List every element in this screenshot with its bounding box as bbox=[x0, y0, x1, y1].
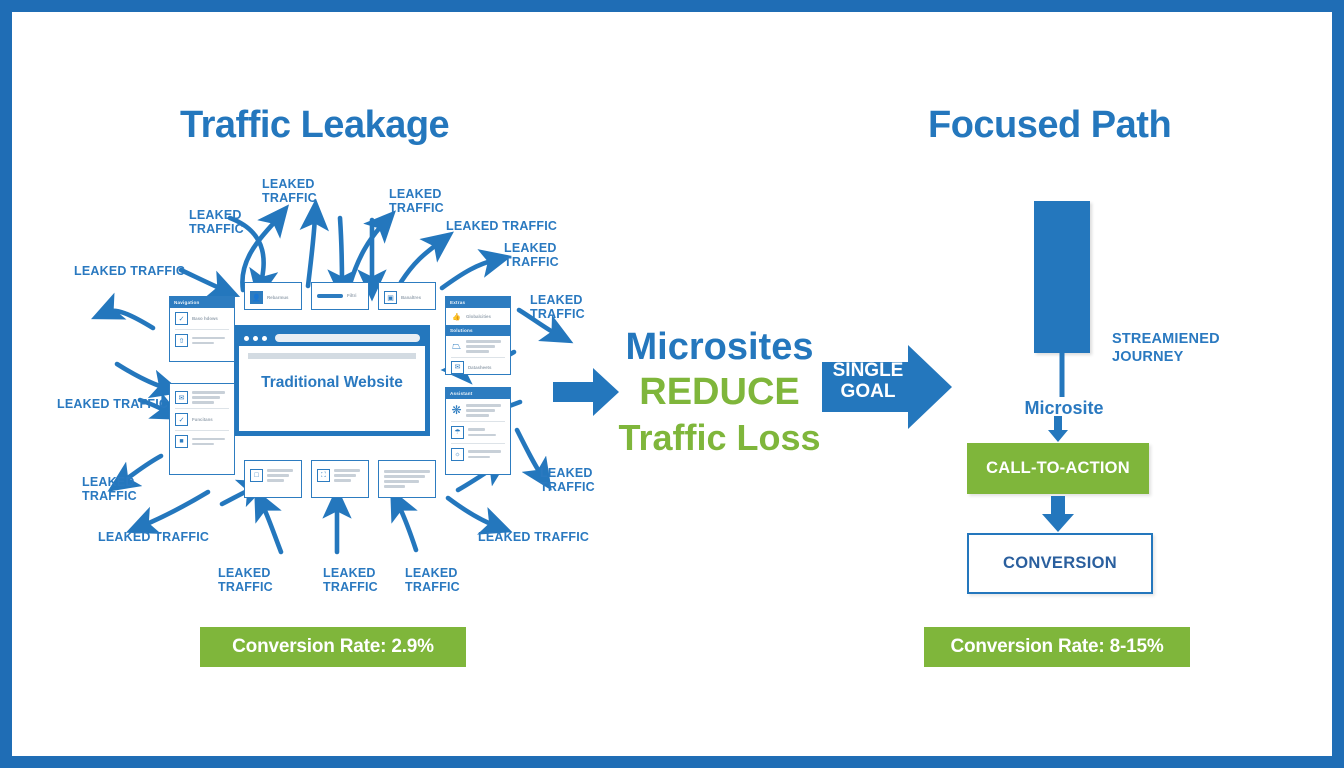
leak-left-mid: LEAKED TRAFFIC bbox=[57, 397, 168, 411]
cart-icon: ☼ bbox=[451, 448, 464, 461]
mock-card-label: Datasheets bbox=[468, 365, 491, 370]
square-icon: □ bbox=[250, 469, 263, 482]
center-arrow-icon bbox=[553, 366, 619, 418]
traditional-website-label: Traditional Website bbox=[239, 373, 425, 392]
bag-icon: ☂ bbox=[451, 426, 464, 439]
infographic-frame: Traffic Leakage Focused Path Traditional… bbox=[12, 12, 1332, 756]
infographic-stage: Traffic Leakage Focused Path Traditional… bbox=[12, 12, 1332, 756]
mock-card-label: Baso hdows bbox=[192, 316, 218, 321]
mock-card-right-1[interactable]: Extras 👍 Globalcities Solutions ⏢ ✉ Data… bbox=[445, 296, 511, 375]
center-message-line3: Traffic Loss bbox=[612, 415, 827, 460]
browser-dot-icon bbox=[262, 336, 267, 341]
box-icon: ■ bbox=[175, 435, 188, 448]
leak-top-right: LEAKED TRAFFIC bbox=[389, 187, 444, 215]
mock-card-label: Filtri bbox=[347, 293, 357, 298]
mock-card-left-2[interactable]: ✉ ✓ Funcitans ■ bbox=[169, 383, 235, 475]
leak-bottom-left: LEAKED TRAFFIC bbox=[98, 530, 209, 544]
page-title-focused-path: Focused Path bbox=[928, 104, 1171, 147]
mock-card-right-2[interactable]: Assistant ❋ ☂ ☼ bbox=[445, 387, 511, 475]
mock-card-header: Navigation bbox=[170, 297, 234, 308]
mock-card-bottom-1[interactable]: □ bbox=[244, 460, 302, 498]
mock-card-bottom-3[interactable] bbox=[378, 460, 436, 498]
leak-top-center: LEAKED TRAFFIC bbox=[262, 177, 317, 205]
center-message-line1: Microsites bbox=[612, 325, 827, 370]
leak-right-upper: LEAKED TRAFFIC bbox=[504, 241, 559, 269]
mock-card-left-1[interactable]: Navigation ✓ Baso hdows ⇧ bbox=[169, 296, 235, 362]
leak-right-lower: LEAKED TRAFFIC bbox=[540, 466, 595, 494]
mock-card-label: Funcitans bbox=[192, 417, 213, 422]
image-icon: ▣ bbox=[384, 291, 397, 304]
leak-top-left: LEAKED TRAFFIC bbox=[189, 208, 244, 236]
leak-left-outer: LEAKED TRAFFIC bbox=[74, 264, 185, 278]
streamlined-journey-label: STREAMIENED JOURNEY bbox=[1112, 330, 1220, 366]
leak-top-far-right: LEAKED TRAFFIC bbox=[446, 219, 557, 233]
pill-icon bbox=[317, 294, 343, 298]
microsite-to-cta-arrow-icon bbox=[1046, 416, 1070, 442]
mock-card-bottom-2[interactable]: ⛶ bbox=[311, 460, 369, 498]
check-icon: ✓ bbox=[175, 312, 188, 325]
shield-check-icon: ✓ bbox=[175, 413, 188, 426]
center-message: Microsites REDUCE Traffic Loss bbox=[612, 325, 827, 460]
mock-card-top-3[interactable]: ▣ Banaltres bbox=[378, 282, 436, 310]
conversion-rate-badge-right: Conversion Rate: 8-15% bbox=[924, 627, 1190, 667]
browser-chrome-bar bbox=[239, 330, 425, 346]
thumbs-up-icon: 👍 bbox=[451, 311, 462, 322]
browser-dot-icon bbox=[253, 336, 258, 341]
traditional-website-browser: Traditional Website bbox=[234, 325, 430, 436]
mock-card-subheader: Solutions bbox=[446, 325, 510, 336]
mock-card-label: Globalcities bbox=[466, 314, 491, 319]
upload-icon: ⇧ bbox=[175, 334, 188, 347]
single-goal-label: SINGLE GOAL bbox=[828, 360, 908, 402]
network-icon: ❋ bbox=[451, 405, 462, 416]
leak-bottom-right: LEAKED TRAFFIC bbox=[478, 530, 589, 544]
mock-card-label: Rebarmus bbox=[267, 295, 288, 300]
mock-card-header: Assistant bbox=[446, 388, 510, 399]
microsite-bar bbox=[1034, 201, 1090, 353]
leak-bottom-1: LEAKED TRAFFIC bbox=[218, 566, 273, 594]
leak-right-mid: LEAKED TRAFFIC bbox=[530, 293, 585, 321]
chat-icon: ⏢ bbox=[451, 341, 462, 352]
envelope-icon: ✉ bbox=[451, 361, 464, 374]
mail-icon: ✉ bbox=[175, 391, 188, 404]
mock-card-top-2[interactable]: Filtri bbox=[311, 282, 369, 310]
page-title-traffic-leakage: Traffic Leakage bbox=[180, 104, 449, 147]
bar-to-microsite-connector bbox=[1054, 353, 1070, 397]
leak-bottom-2: LEAKED TRAFFIC bbox=[323, 566, 378, 594]
single-goal-line1: SINGLE bbox=[833, 360, 904, 381]
browser-dot-icon bbox=[244, 336, 249, 341]
leak-left-lower: LEAKED TRAFFIC bbox=[82, 475, 137, 503]
leak-bottom-3: LEAKED TRAFFIC bbox=[405, 566, 460, 594]
cta-to-conversion-arrow-icon bbox=[1040, 496, 1076, 532]
browser-url-input[interactable] bbox=[275, 334, 420, 342]
browser-nav-strip bbox=[248, 353, 416, 359]
picture-icon: ⛶ bbox=[317, 469, 330, 482]
call-to-action-box[interactable]: CALL-TO-ACTION bbox=[967, 443, 1149, 494]
center-message-line2: REDUCE bbox=[612, 370, 827, 415]
mock-card-header: Extras bbox=[446, 297, 510, 308]
single-goal-line2: GOAL bbox=[841, 381, 896, 402]
person-icon: 👤 bbox=[250, 291, 263, 304]
mock-card-top-1[interactable]: 👤 Rebarmus bbox=[244, 282, 302, 310]
mock-card-label: Banaltres bbox=[401, 295, 421, 300]
conversion-rate-badge-left: Conversion Rate: 2.9% bbox=[200, 627, 466, 667]
conversion-box: CONVERSION bbox=[967, 533, 1153, 594]
